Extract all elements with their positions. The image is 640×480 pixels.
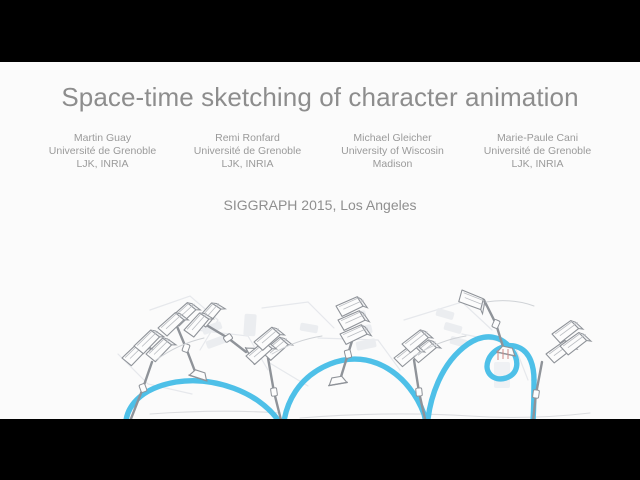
- author-name: Martin Guay: [30, 132, 175, 145]
- author-name: Marie-Paule Cani: [465, 132, 610, 145]
- author-entry: Remi Ronfard Université de Grenoble LJK,…: [175, 132, 320, 171]
- author-name: Michael Gleicher: [320, 132, 465, 145]
- lamp-character-pose-1: [116, 326, 179, 419]
- author-name: Remi Ronfard: [175, 132, 320, 145]
- video-frame: Space-time sketching of character animat…: [0, 0, 640, 480]
- author-entry: Marie-Paule Cani Université de Grenoble …: [465, 132, 610, 171]
- trajectory-arc-2: [283, 359, 427, 419]
- author-affiliation-line1: Université de Grenoble: [175, 145, 320, 158]
- space-time-sketch-illustration: [0, 62, 640, 419]
- author-entry: Michael Gleicher University of Wiscosin …: [320, 132, 465, 171]
- author-affiliation-line2: Madison: [320, 158, 465, 171]
- ground-sketch-lines: [24, 411, 590, 419]
- letterbox-top: [0, 0, 640, 62]
- page-title: Space-time sketching of character animat…: [0, 82, 640, 113]
- author-affiliation-line2: LJK, INRIA: [175, 158, 320, 171]
- author-entry: Martin Guay Université de Grenoble LJK, …: [30, 132, 175, 171]
- author-affiliation-line2: LJK, INRIA: [465, 158, 610, 171]
- author-affiliation-line1: University of Wiscosin: [320, 145, 465, 158]
- venue-label: SIGGRAPH 2015, Los Angeles: [0, 197, 640, 213]
- author-affiliation-line1: Université de Grenoble: [465, 145, 610, 158]
- presentation-slide: Space-time sketching of character animat…: [0, 62, 640, 419]
- author-affiliation-line1: Université de Grenoble: [30, 145, 175, 158]
- author-list: Martin Guay Université de Grenoble LJK, …: [30, 132, 610, 171]
- lamp-character-pose-6: [392, 327, 443, 419]
- author-affiliation-line2: LJK, INRIA: [30, 158, 175, 171]
- trajectory-arc-1: [125, 381, 283, 419]
- letterbox-bottom: [0, 419, 640, 480]
